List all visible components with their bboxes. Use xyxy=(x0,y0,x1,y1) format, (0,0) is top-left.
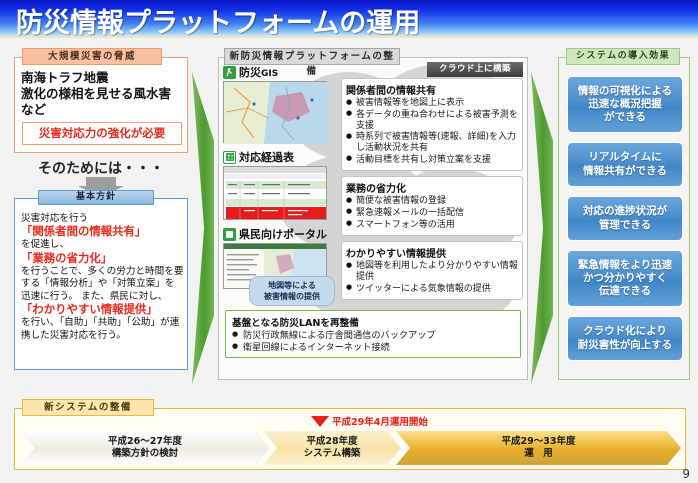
system-label-gis: 防災GIS xyxy=(239,64,278,80)
network-item: 衛星回線によるインターネット接続 xyxy=(232,342,514,354)
effects-panel: 情報の可視化による 迅速な概況把握 ができる リアルタイムに 情報共有ができる … xyxy=(558,57,690,380)
threat-line-1: 南海トラフ地震 xyxy=(21,70,185,86)
feature-item: 活動目標を共有し対策立案を支援 xyxy=(346,155,518,166)
effect-card: 緊急情報をより迅速 かつ分かりやすく 伝達できる xyxy=(567,250,683,307)
portal-window-icon xyxy=(223,228,236,241)
feature-title: 関係者間の情報共有 xyxy=(346,82,518,97)
green-arrow-right-icon xyxy=(531,72,553,384)
system-item-gis[interactable]: 防災GIS xyxy=(223,64,341,80)
milestone-marker: 平成29年4月運用開始 xyxy=(311,414,428,428)
feature-title: わかりやすい情報提供 xyxy=(346,245,518,260)
system-list: 防災GIS 対応経過表 xyxy=(223,64,341,289)
feature-items: 地図等を利用したより分かりやすい情報提供 ツイッターによる気象情報の提供 xyxy=(346,261,518,295)
policy-p2: を促進し、 xyxy=(21,239,69,250)
feature-title: 業務の省力化 xyxy=(346,180,518,195)
green-arrow-left-icon xyxy=(192,72,214,384)
timeline-section-tab: 新システムの整備 xyxy=(22,399,154,416)
map-thumbnail-graphic xyxy=(224,82,328,144)
phase-period: 平成26～27年度 xyxy=(108,436,182,448)
feature-card-list: 関係者間の情報共有 被害情報等を地図上に表示 各データの重ね合わせによる被害予測… xyxy=(341,78,523,305)
transition-text: そのためには・・・ xyxy=(14,158,188,178)
policy-h3: 「わかりやすい情報提供」 xyxy=(21,303,184,317)
feature-card: 業務の省力化 簡便な被害情報の登録 緊急速報メールの一括配信 スマートフォン等の… xyxy=(341,176,523,236)
timeline-phase: 平成26～27年度 構築方針の検討 xyxy=(21,431,269,465)
effect-card: リアルタイムに 情報共有ができる xyxy=(567,142,683,187)
map-info-callout: 地図等による 被害情報の提供 xyxy=(249,276,335,306)
phase-name: システム構築 xyxy=(304,448,361,460)
threat-section-tab: 大規模災害の脅威 xyxy=(22,48,162,65)
system-label-progress-table: 対応経過表 xyxy=(239,149,294,165)
network-title: 基盤となる防災LANを再整備 xyxy=(232,315,514,329)
network-infrastructure-box: 基盤となる防災LANを再整備 防災行政無線による庁舎間通信のバックアップ 衛星回… xyxy=(225,310,521,358)
timeline-phase: 平成29～33年度 運 用 xyxy=(396,431,681,465)
cloud-badge: クラウド上に構築 xyxy=(427,62,523,77)
threat-emphasis: 災害対応力の強化が必要 xyxy=(22,122,182,145)
table-thumbnail-graphic xyxy=(224,167,327,220)
system-item-progress-table[interactable]: 対応経過表 xyxy=(223,149,341,165)
policy-h2: 「業務の省力化」 xyxy=(21,252,184,266)
effect-card: 情報の可視化による 迅速な概況把握 ができる xyxy=(567,76,683,133)
system-label-portal: 県民向けポータル xyxy=(239,226,327,242)
feature-item: 簡便な被害情報の登録 xyxy=(346,196,518,207)
red-triangle-icon xyxy=(311,416,329,427)
policy-text: 災害対応を行う 「関係者間の情報共有」 を促進し、 「業務の省力化」 を行うこと… xyxy=(21,213,184,342)
policy-h1: 「関係者間の情報共有」 xyxy=(21,225,184,239)
timeline-phase: 平成28年度 システム構築 xyxy=(263,431,401,465)
feature-item: 各データの重ね合わせによる被害予測を支援 xyxy=(346,110,518,132)
policy-p1: 災害対応を行う xyxy=(21,213,88,224)
milestone-label: 平成29年4月運用開始 xyxy=(332,414,428,428)
feature-item: 時系列で被害情報等(速報、詳細)を入力し活動状況を共有 xyxy=(346,132,518,154)
platform-panel: 防災GIS 対応経過表 xyxy=(218,57,528,380)
effects-section-tab: システムの導入効果 xyxy=(566,48,680,65)
map-pin-icon xyxy=(223,66,236,79)
gis-screenshot-thumbnail[interactable] xyxy=(223,81,327,143)
feature-item: 被害情報等を地図上に表示 xyxy=(346,98,518,109)
policy-p5: を行い、「自助」「共助」「公助」が連携した災害対応を行う。 xyxy=(21,317,179,340)
map-callout-line-2: 被害情報の提供 xyxy=(250,292,334,303)
feature-items: 簡便な被害情報の登録 緊急速報メールの一括配信 スマートフォン等の活用 xyxy=(346,196,518,230)
grid-table-icon xyxy=(223,151,236,164)
page-number: 9 xyxy=(682,467,690,481)
policy-p4: また、県民に対し、 xyxy=(81,291,167,302)
phase-name: 運 用 xyxy=(502,448,576,460)
phase-name: 構築方針の検討 xyxy=(108,448,182,460)
feature-items: 被害情報等を地図上に表示 各データの重ね合わせによる被害予測を支援 時系列で被害… xyxy=(346,98,518,166)
timeline-panel: 平成26～27年度 構築方針の検討 平成28年度 システム構築 平成29～33年… xyxy=(14,408,686,470)
threat-line-2: 激化の様相を見せる風水害 xyxy=(21,86,185,102)
network-item: 防災行政無線による庁舎間通信のバックアップ xyxy=(232,330,514,342)
feature-item: 地図等を利用したより分かりやすい情報提供 xyxy=(346,261,518,283)
policy-section-tab: 基本方針 xyxy=(38,190,154,205)
effect-card: 対応の進捗状況が 管理できる xyxy=(567,196,683,241)
platform-section-tab: 新防災情報プラットフォームの整備 xyxy=(224,48,400,65)
feature-card: わかりやすい情報提供 地図等を利用したより分かりやすい情報提供 ツイッターによる… xyxy=(341,241,523,300)
feature-item: 緊急速報メールの一括配信 xyxy=(346,208,518,219)
system-item-portal[interactable]: 県民向けポータル xyxy=(223,226,341,242)
slide-title-bar: 防災情報プラットフォームの運用 xyxy=(0,0,698,38)
slide-root: 防災情報プラットフォームの運用 大規模災害の脅威 南海トラフ地震 激化の様相を見… xyxy=(0,0,698,483)
page-title: 防災情報プラットフォームの運用 xyxy=(16,1,420,40)
phase-period: 平成28年度 xyxy=(304,436,361,448)
progress-table-screenshot-thumbnail[interactable] xyxy=(223,166,327,220)
policy-box: 災害対応を行う 「関係者間の情報共有」 を促進し、 「業務の省力化」 を行うこと… xyxy=(14,198,188,370)
network-items: 防災行政無線による庁舎間通信のバックアップ 衛星回線によるインターネット接続 xyxy=(232,330,514,354)
threat-box: 南海トラフ地震 激化の様相を見せる風水害 など 災害対応力の強化が必要 xyxy=(14,57,188,153)
threat-line-3: など xyxy=(21,102,185,118)
map-callout-line-1: 地図等による xyxy=(250,281,334,292)
threat-text: 南海トラフ地震 激化の様相を見せる風水害 など xyxy=(21,70,185,118)
feature-card: 関係者間の情報共有 被害情報等を地図上に表示 各データの重ね合わせによる被害予測… xyxy=(341,78,523,171)
title-underline xyxy=(0,36,698,38)
effect-card: クラウド化により 耐災害性が向上する xyxy=(567,316,683,361)
feature-item: ツイッターによる気象情報の提供 xyxy=(346,284,518,295)
phase-period: 平成29～33年度 xyxy=(502,436,576,448)
feature-item: スマートフォン等の活用 xyxy=(346,220,518,231)
